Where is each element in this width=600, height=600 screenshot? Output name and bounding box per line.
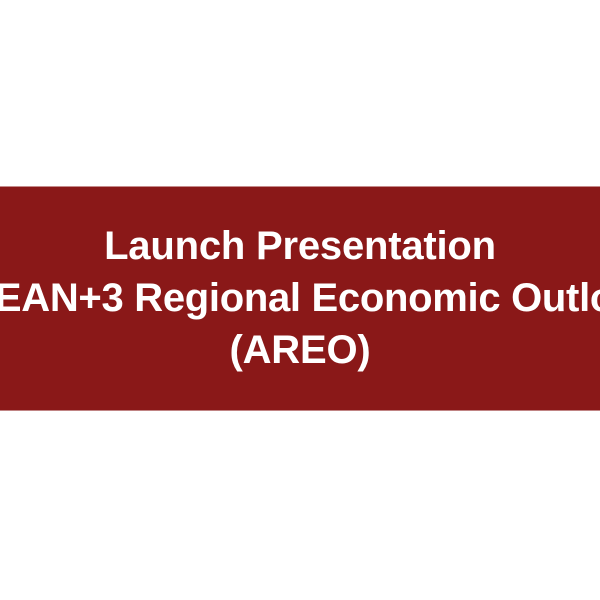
title-line-acronym: (AREO) [0,324,600,376]
title-line-report-name: ASEAN+3 Regional Economic Outlook [0,272,600,324]
slide-canvas: Launch Presentation ASEAN+3 Regional Eco… [0,0,600,600]
title-line-primary: Launch Presentation [0,220,600,272]
title-banner: Launch Presentation ASEAN+3 Regional Eco… [0,186,600,411]
title-text-block: Launch Presentation ASEAN+3 Regional Eco… [0,220,600,376]
